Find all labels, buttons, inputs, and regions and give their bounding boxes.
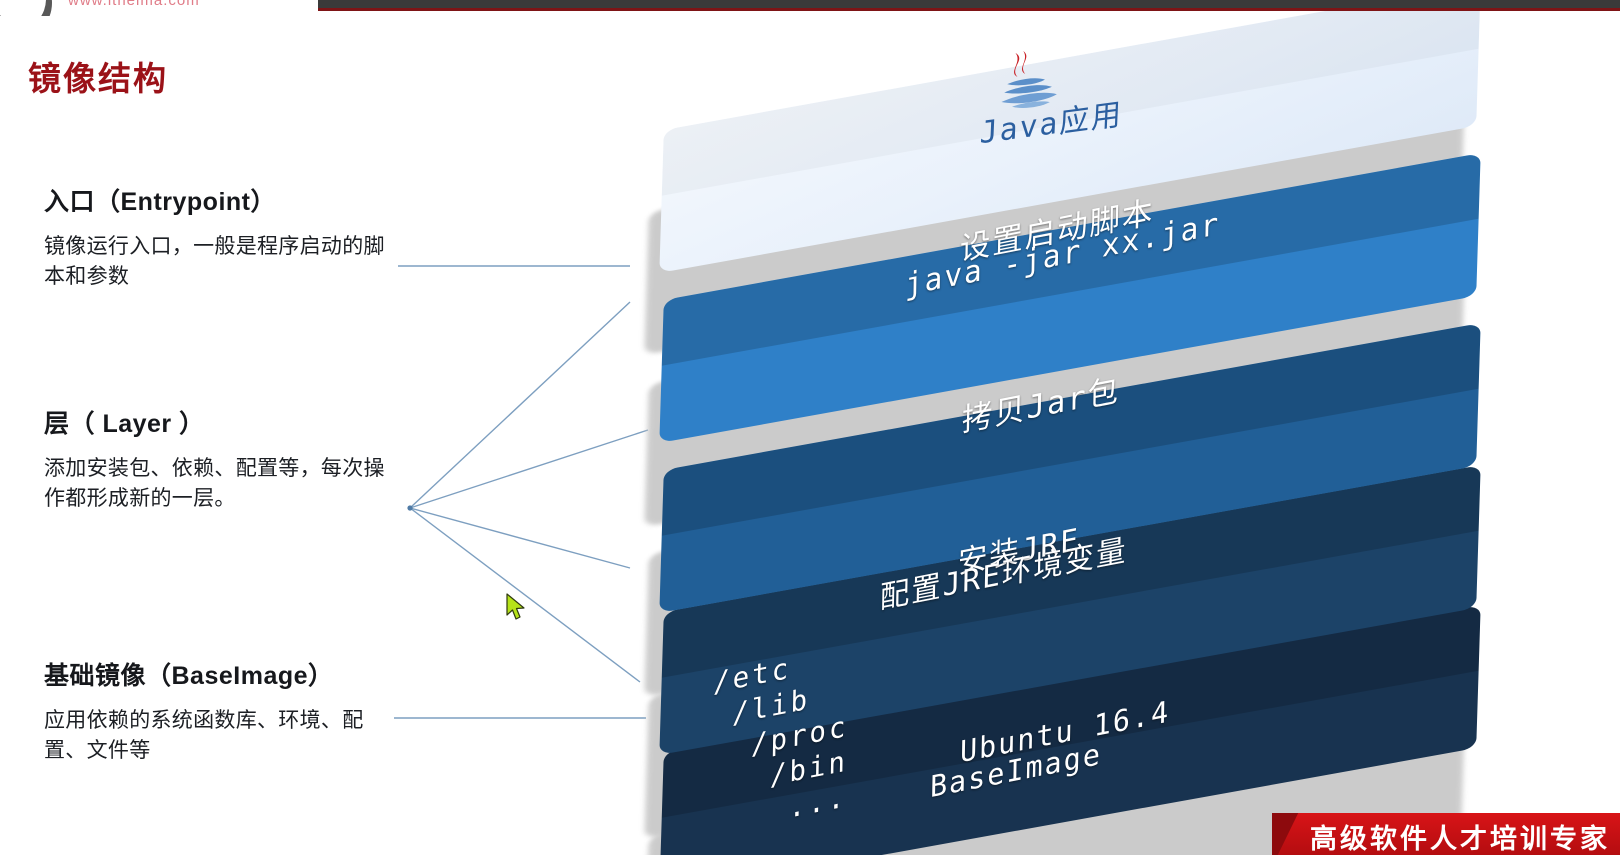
- image-layer-stack: Java应用 设置启动脚本 java -jar xx.jar 拷贝Jar包 安装…: [0, 0, 1620, 855]
- java-logo-icon: [985, 48, 1065, 114]
- footer-banner-text: 高级软件人才培训专家: [1310, 817, 1610, 855]
- layer-base-image-paths: /etc /lib /proc /bin ...: [710, 640, 850, 841]
- circle-logo-inner-icon: [0, 0, 46, 16]
- arrow-cursor-icon: [506, 593, 528, 623]
- footer-banner: 高级软件人才培训专家: [1272, 813, 1620, 855]
- slide-canvas: www.itheima.com 镜像结构 入口（Entrypoint） 镜像运行…: [0, 0, 1620, 855]
- watermark-site-text: www.itheima.com: [68, 0, 200, 9]
- watermark-bar: www.itheima.com: [0, 0, 1620, 16]
- footer-banner-edge: [1272, 813, 1298, 855]
- topbar-red-rule: [318, 8, 1620, 11]
- topbar-dark-strip: [318, 0, 1620, 8]
